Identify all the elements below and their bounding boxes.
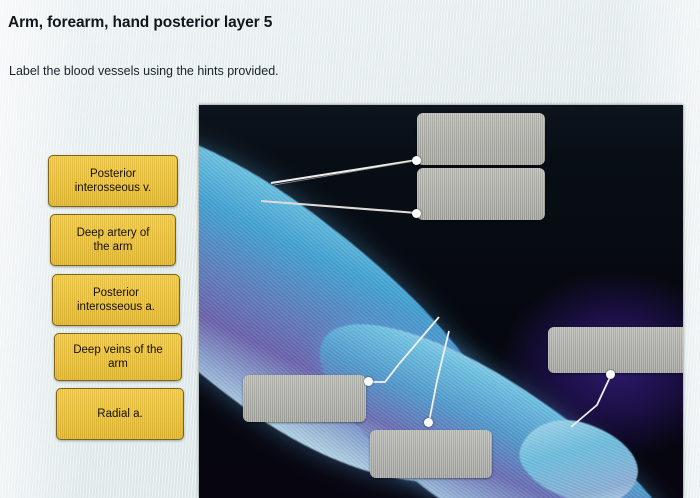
- hint-label-line1: Radial a.: [97, 407, 142, 421]
- leader-line-3: [571, 375, 611, 427]
- hint-tile-deep-veins-of-the-arm[interactable]: Deep veins of the arm: [54, 333, 182, 381]
- leader-line-1-shade: [274, 161, 415, 185]
- page-title: Arm, forearm, hand posterior layer 5: [8, 14, 272, 32]
- leader-line-5: [429, 331, 449, 422]
- answer-box-bottom-center[interactable]: [370, 430, 492, 478]
- callout-dot-4: [364, 377, 373, 386]
- callout-dot-3: [606, 370, 615, 379]
- callout-dot-5: [424, 418, 433, 427]
- instruction-text: Label the blood vessels using the hints …: [9, 64, 279, 78]
- callout-dot-1: [412, 156, 421, 165]
- anatomy-photo: [199, 105, 683, 498]
- hint-tile-posterior-interosseous-artery[interactable]: Posterior interosseous a.: [52, 274, 180, 326]
- answer-box-right-middle[interactable]: [548, 327, 683, 373]
- hint-tile-deep-artery-of-the-arm[interactable]: Deep artery of the arm: [50, 214, 176, 266]
- hint-label-line1: Posterior: [77, 286, 155, 300]
- hint-label-line2: interosseous a.: [77, 300, 155, 314]
- quiz-page: Arm, forearm, hand posterior layer 5 Lab…: [0, 0, 700, 498]
- hint-label-line2: interosseous v.: [75, 181, 152, 195]
- hint-label-line2: arm: [73, 357, 163, 371]
- leader-line-2: [261, 201, 417, 213]
- hint-label-line1: Deep artery of: [77, 226, 150, 240]
- hint-label-line2: the arm: [77, 240, 150, 254]
- hint-tile-radial-artery[interactable]: Radial a.: [56, 388, 184, 440]
- hint-label-line1: Deep veins of the: [73, 343, 163, 357]
- hint-label-line1: Posterior: [75, 167, 152, 181]
- callout-dot-2: [412, 209, 421, 218]
- leader-line-4: [369, 317, 439, 382]
- answer-box-top-upper[interactable]: [417, 113, 545, 165]
- hint-tile-posterior-interosseous-vein[interactable]: Posterior interosseous v.: [48, 155, 178, 207]
- answer-box-top-lower[interactable]: [417, 168, 545, 220]
- answer-box-bottom-left[interactable]: [243, 375, 366, 422]
- leader-line-1: [271, 160, 417, 183]
